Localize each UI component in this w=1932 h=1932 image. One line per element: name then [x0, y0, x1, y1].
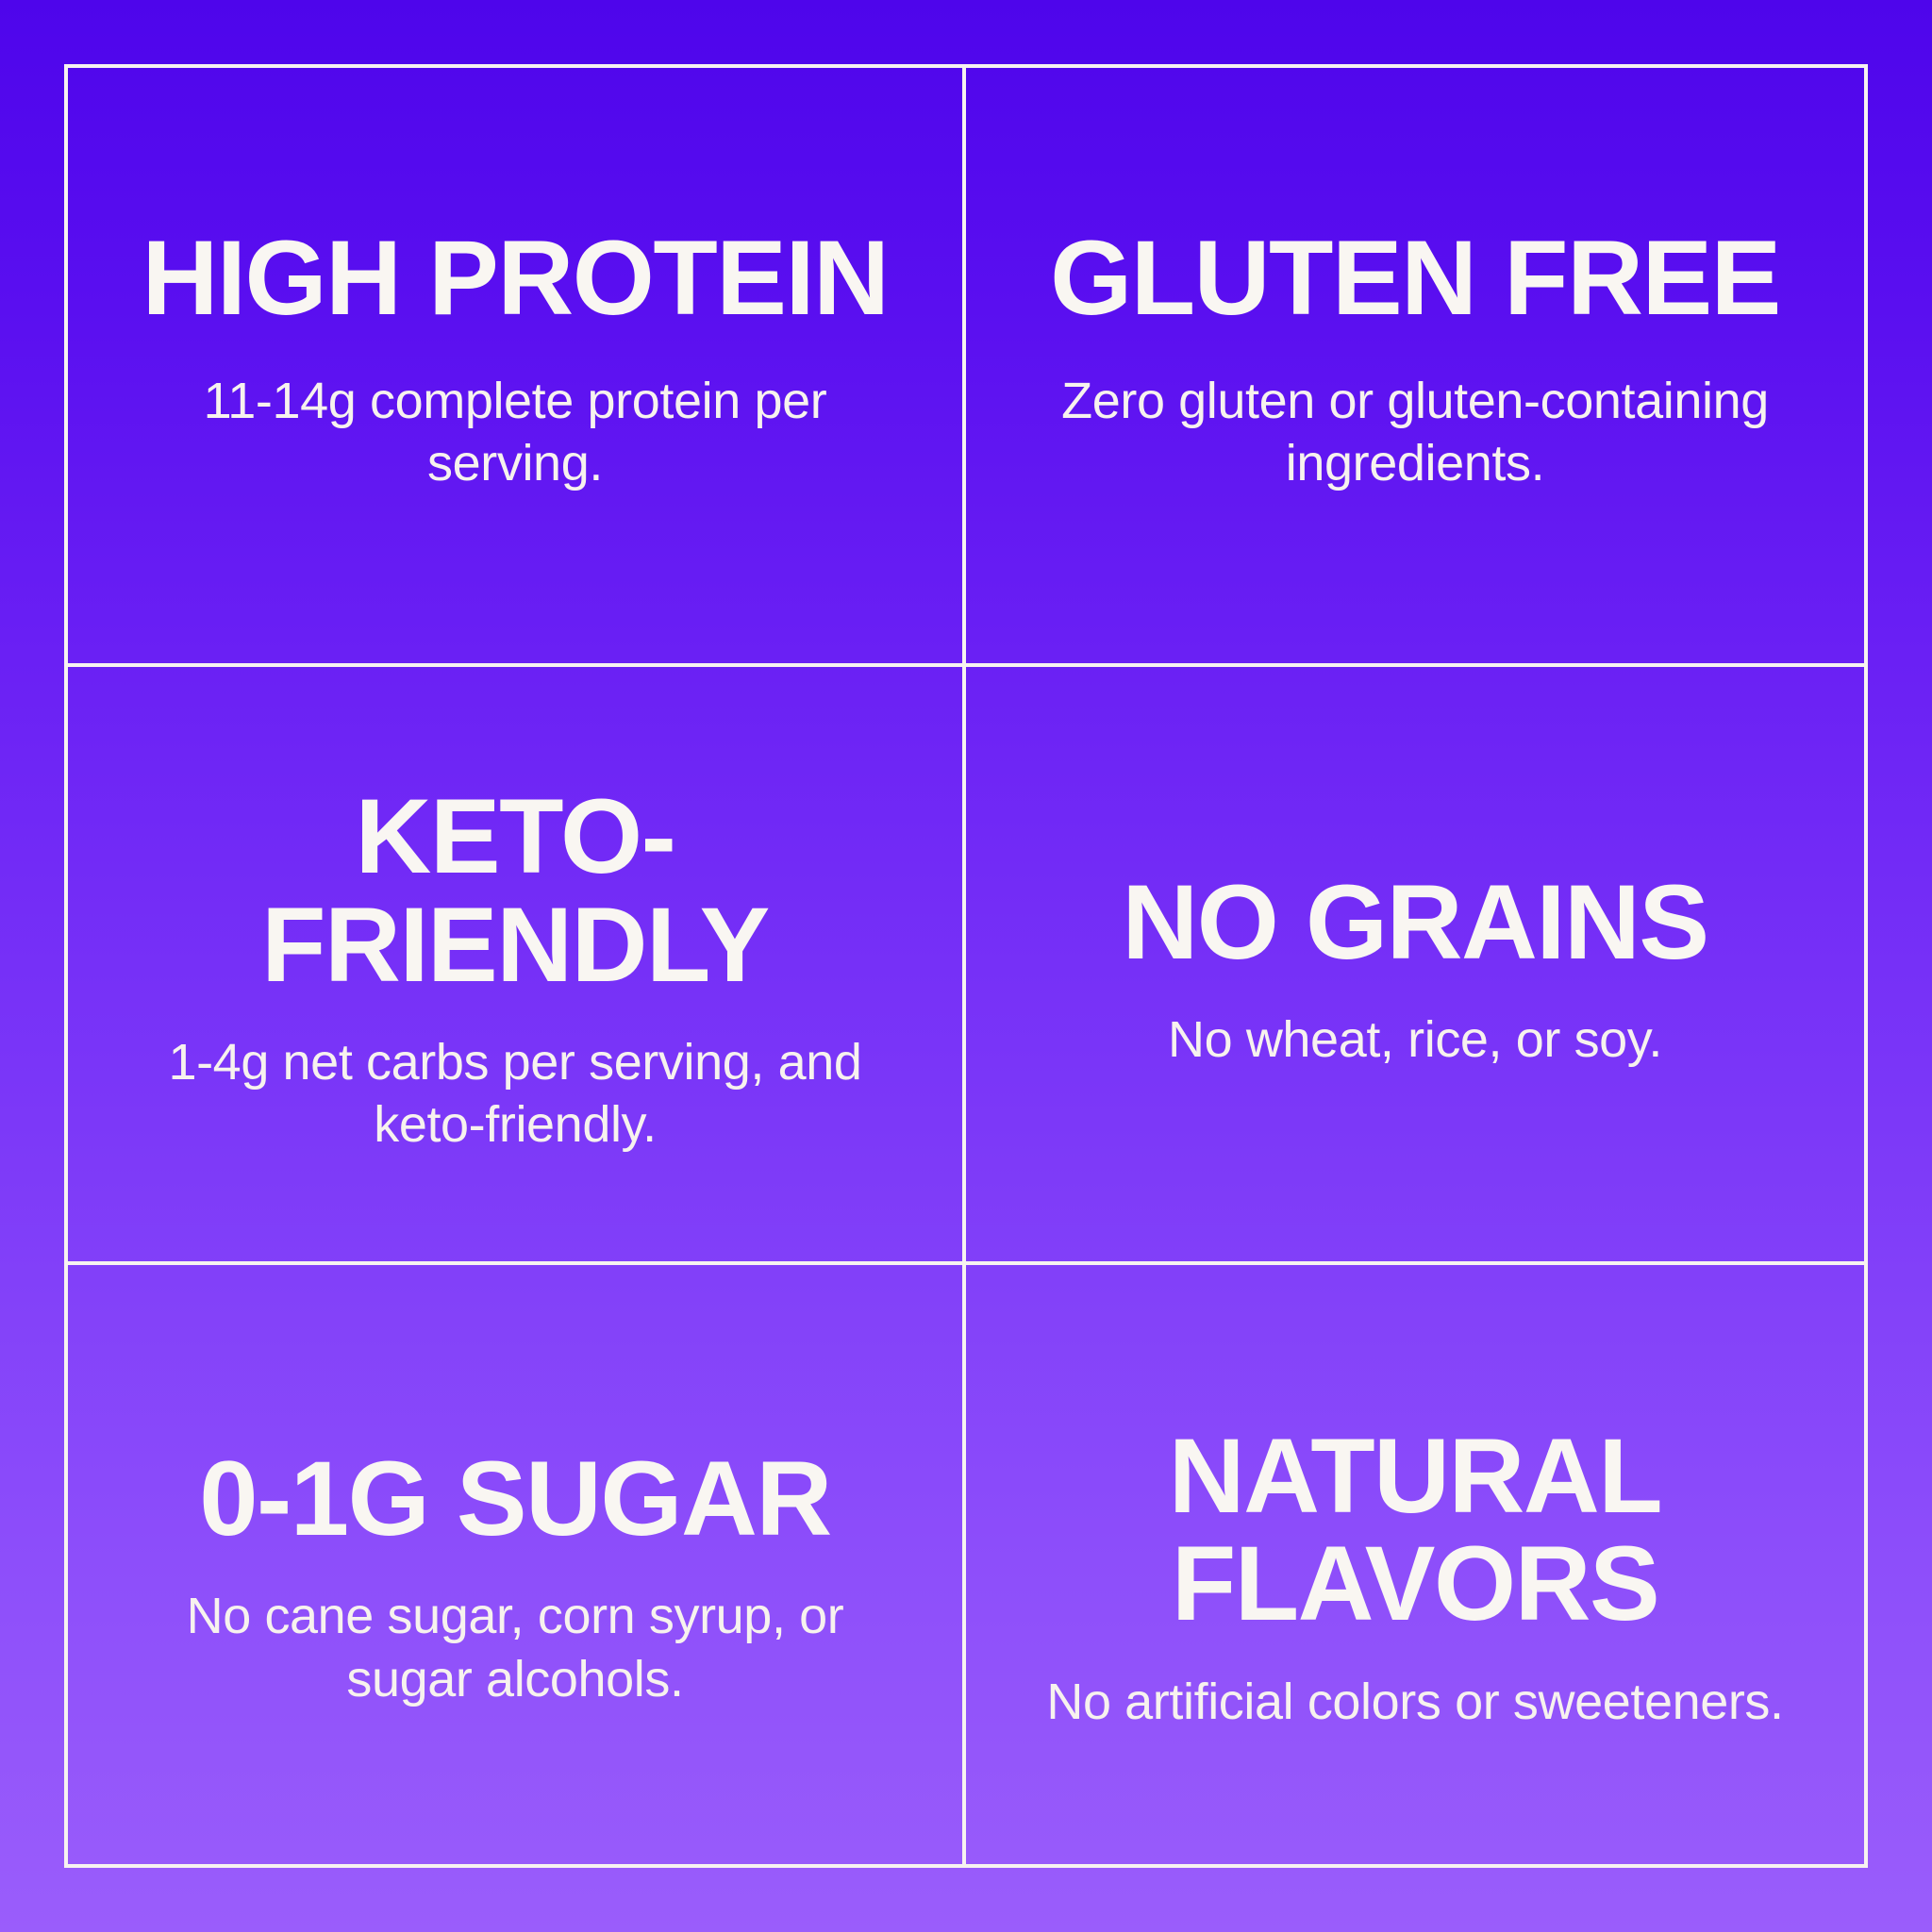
benefit-description: 1-4g net carbs per serving, and keto-fri… [145, 1031, 885, 1157]
benefit-description: 11-14g complete protein per serving. [145, 370, 885, 495]
benefit-content: NATURAL FLAVORS No artificial colors or … [1011, 1423, 1819, 1733]
benefit-content: KETO-FRIENDLY 1-4g net carbs per serving… [113, 783, 917, 1156]
benefit-cell-no-grains: NO GRAINS No wheat, rice, or soy. [966, 667, 1864, 1266]
benefit-content: 0-1g SUGAR No cane sugar, corn syrup, or… [113, 1445, 917, 1710]
benefit-description: No cane sugar, corn syrup, or sugar alco… [145, 1585, 885, 1710]
benefit-content: HIGH PROTEIN 11-14g complete protein per… [113, 225, 917, 495]
benefit-content: GLUTEN FREE Zero gluten or gluten-contai… [1011, 225, 1819, 495]
benefits-poster: HIGH PROTEIN 11-14g complete protein per… [0, 0, 1932, 1932]
benefit-title: KETO-FRIENDLY [113, 783, 917, 998]
benefit-cell-gluten-free: GLUTEN FREE Zero gluten or gluten-contai… [966, 68, 1864, 667]
benefit-description: Zero gluten or gluten-containing ingredi… [1043, 370, 1787, 495]
benefit-title: GLUTEN FREE [1050, 225, 1780, 332]
benefit-description: No wheat, rice, or soy. [1168, 1008, 1662, 1071]
benefit-cell-keto-friendly: KETO-FRIENDLY 1-4g net carbs per serving… [68, 667, 966, 1266]
benefit-cell-low-sugar: 0-1g SUGAR No cane sugar, corn syrup, or… [68, 1265, 966, 1864]
benefit-title: NO GRAINS [1122, 869, 1707, 976]
benefit-title: NATURAL FLAVORS [1011, 1423, 1819, 1638]
benefits-grid: HIGH PROTEIN 11-14g complete protein per… [64, 64, 1868, 1868]
benefit-cell-high-protein: HIGH PROTEIN 11-14g complete protein per… [68, 68, 966, 667]
benefit-content: NO GRAINS No wheat, rice, or soy. [1011, 869, 1819, 1072]
benefit-description: No artificial colors or sweeteners. [1046, 1671, 1783, 1733]
benefit-cell-natural-flavors: NATURAL FLAVORS No artificial colors or … [966, 1265, 1864, 1864]
benefit-title: 0-1g SUGAR [199, 1445, 831, 1553]
benefit-title: HIGH PROTEIN [142, 225, 889, 332]
